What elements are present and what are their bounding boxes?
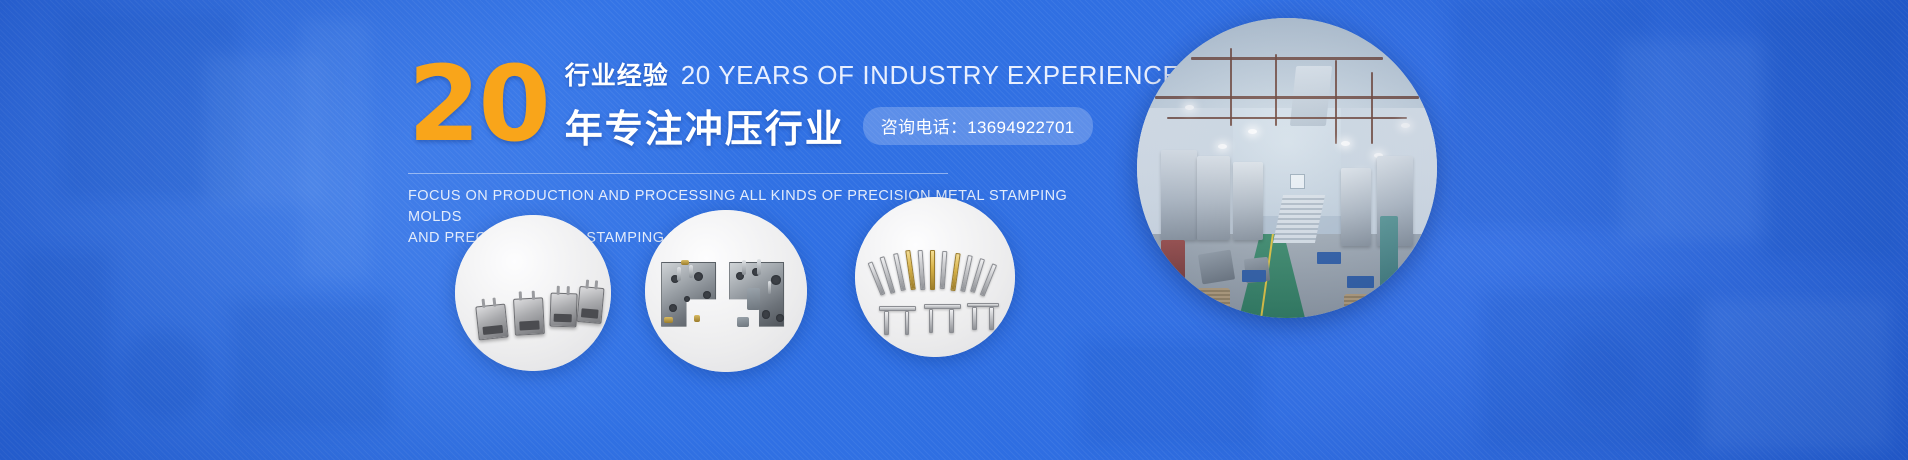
factory-workshop-photo[interactable] bbox=[1137, 18, 1437, 318]
english-headline: 20 YEARS OF INDUSTRY EXPERIENCE bbox=[681, 60, 1181, 91]
headline-line-1: 行业经验 20 YEARS OF INDUSTRY EXPERIENCE bbox=[565, 56, 1181, 92]
usb-connector-shells-art bbox=[455, 215, 611, 371]
headline-line-2: 年专注冲压行业 咨询电话：13694922701 bbox=[565, 98, 1181, 153]
divider-rule bbox=[408, 173, 948, 174]
photo-shading bbox=[1137, 18, 1437, 318]
metal-terminal-pins-art bbox=[855, 197, 1015, 357]
product-circle-stamping-molds[interactable] bbox=[645, 210, 807, 372]
headline-row: 20 行业经验 20 YEARS OF INDUSTRY EXPERIENCE … bbox=[408, 40, 1108, 153]
product-circle-usb-connectors[interactable] bbox=[455, 215, 611, 371]
chinese-headline: 年专注冲压行业 bbox=[565, 98, 845, 153]
chinese-subhead: 行业经验 bbox=[565, 56, 669, 92]
headline-text-group: 行业经验 20 YEARS OF INDUSTRY EXPERIENCE 年专注… bbox=[565, 40, 1181, 153]
phone-badge[interactable]: 咨询电话：13694922701 bbox=[863, 107, 1093, 145]
stamping-mold-dies-art bbox=[645, 210, 807, 372]
years-number: 20 bbox=[408, 40, 549, 149]
product-circle-terminal-pins[interactable] bbox=[855, 197, 1015, 357]
promotional-banner: 20 行业经验 20 YEARS OF INDUSTRY EXPERIENCE … bbox=[0, 0, 1908, 460]
